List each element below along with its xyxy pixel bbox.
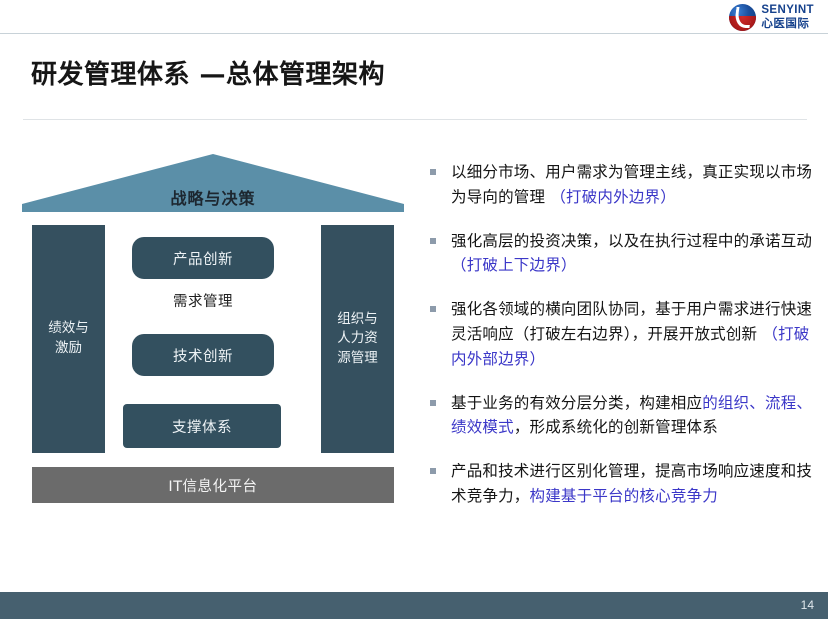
plain-phrase: 强化高层的投资决策，以及在执行过程中的承诺互动 (451, 232, 812, 250)
slide-canvas: SENYINT 心医国际 研发管理体系 —总体管理架构 战略与决策 绩效与激励 … (0, 0, 828, 619)
bullet-square-icon (430, 306, 436, 312)
label-demand-management: 需求管理 (132, 290, 274, 311)
bullet-2-text: 强化高层的投资决策，以及在执行过程中的承诺互动 （打破上下边界） (451, 229, 816, 279)
senyint-logo: SENYINT 心医国际 (674, 2, 814, 32)
highlighted-phrase: （打破内外边界） (550, 188, 676, 206)
bullet-1: 以细分市场、用户需求为管理主线，真正实现以市场为导向的管理 （打破内外边界） (430, 160, 816, 210)
footer-bar: 14 (0, 592, 828, 619)
header-divider (0, 33, 828, 34)
bullet-3: 强化各领域的横向团队协同，基于用户需求进行快速灵活响应（打破左右边界），开展开放… (430, 297, 816, 371)
box-support-system: 支撑体系 (123, 404, 281, 448)
plain-phrase: 强化各领域的横向团队协同，基于用户需求进行快速灵活响应（打破左右边界），开展开放… (451, 300, 812, 343)
bullet-5-text: 产品和技术进行区别化管理，提高市场响应速度和技术竞争力，构建基于平台的核心竞争力 (451, 459, 816, 509)
bullet-1-text: 以细分市场、用户需求为管理主线，真正实现以市场为导向的管理 （打破内外边界） (451, 160, 816, 210)
plain-phrase: ，形成系统化的创新管理体系 (514, 418, 718, 436)
page-number: 14 (801, 598, 814, 612)
bullet-3-text: 强化各领域的横向团队协同，基于用户需求进行快速灵活响应（打破左右边界），开展开放… (451, 297, 816, 371)
box-technology-innovation: 技术创新 (132, 334, 274, 376)
plain-phrase: 基于业务的有效分层分类，构建相应 (451, 394, 702, 412)
logo-mark-icon (729, 4, 756, 31)
bullet-5: 产品和技术进行区别化管理，提高市场响应速度和技术竞争力，构建基于平台的核心竞争力 (430, 459, 816, 509)
bullet-2: 强化高层的投资决策，以及在执行过程中的承诺互动 （打破上下边界） (430, 229, 816, 279)
bullet-square-icon (430, 400, 436, 406)
bullet-4: 基于业务的有效分层分类，构建相应的组织、流程、绩效模式，形成系统化的创新管理体系 (430, 391, 816, 441)
highlighted-phrase: 构建基于平台的核心竞争力 (530, 487, 718, 505)
roof-label: 战略与决策 (22, 185, 404, 209)
pillar-right-organization: 组织与人力资源管理 (321, 225, 394, 453)
pillar-left-label: 绩效与激励 (48, 319, 89, 358)
bullet-list: 以细分市场、用户需求为管理主线，真正实现以市场为导向的管理 （打破内外边界）强化… (430, 160, 816, 528)
logo-text: SENYINT 心医国际 (761, 5, 814, 30)
title-divider (23, 119, 807, 120)
highlighted-phrase: （打破上下边界） (451, 256, 577, 274)
bullet-square-icon (430, 238, 436, 244)
bullet-square-icon (430, 468, 436, 474)
house-framework-diagram: 战略与决策 绩效与激励 组织与人力资源管理 产品创新 需求管理 技术创新 支撑体… (22, 154, 404, 504)
pillar-left-performance: 绩效与激励 (32, 225, 105, 453)
box-product-innovation: 产品创新 (132, 237, 274, 279)
pillar-right-label: 组织与人力资源管理 (337, 310, 378, 369)
base-it-platform: IT信息化平台 (32, 467, 394, 503)
page-title: 研发管理体系 —总体管理架构 (31, 54, 385, 91)
bullet-4-text: 基于业务的有效分层分类，构建相应的组织、流程、绩效模式，形成系统化的创新管理体系 (451, 391, 816, 441)
bullet-square-icon (430, 169, 436, 175)
logo-chinese-text: 心医国际 (761, 18, 814, 30)
logo-english-text: SENYINT (761, 5, 814, 17)
